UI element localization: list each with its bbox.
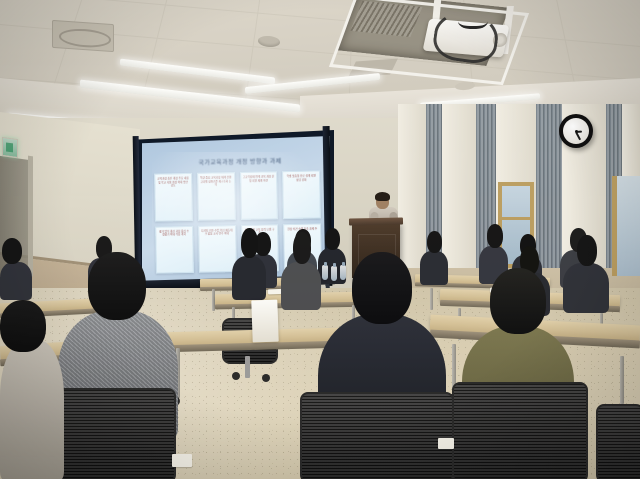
- power-cable: [458, 10, 488, 29]
- wall-clock: [559, 114, 593, 148]
- window: [612, 176, 640, 276]
- ceiling-projector: [338, 0, 518, 78]
- slide-box-1: 교육과정 총론 개정 주요 내용 및 학교 자율 편성 확대 방안 검토: [154, 173, 193, 221]
- slide-box-text: 역량 중심 교육과정 체계 전환 교과별 성취기준 재구조화 논의: [200, 176, 232, 187]
- slide-box-4: 학생 맞춤형 진로 설계 지원 상담 강화: [282, 170, 321, 218]
- slide-box-text: 교육과정 총론 개정 주요 내용 및 학교 자율 편성 확대 방안 검토: [157, 177, 189, 188]
- paper-bag[interactable]: [251, 300, 278, 343]
- chair[interactable]: [452, 382, 584, 479]
- chair[interactable]: [596, 404, 640, 479]
- slide-box-text: 평가 방식 개선 과정 중심 수행평가 확대 적용 계획: [158, 229, 190, 237]
- slide-box-text: 디지털 기반 수업 혁신 에듀테크 활용 교사 연수 확대: [201, 229, 233, 237]
- attendee-left-rear: [0, 300, 64, 479]
- floor-cup[interactable]: [172, 454, 192, 467]
- slide-box-3: 고교학점제 연계 과목 개설 운영 지원 체계 마련: [240, 171, 279, 219]
- attendee-left-mid: [0, 238, 32, 296]
- air-diffuser-icon: [52, 20, 114, 52]
- slide-box-6: 디지털 기반 수업 혁신 에듀테크 활용 교사 연수 확대: [198, 225, 237, 273]
- attendee-center-grey: [281, 232, 321, 304]
- slide-title: 국가교육과정 개정 방향과 과제: [168, 154, 312, 167]
- lectern-top: [349, 218, 403, 226]
- slide-box-text: 학생 맞춤형 진로 설계 지원 상담 강화: [285, 174, 317, 182]
- floor-cup[interactable]: [438, 438, 454, 449]
- presenter-hair: [375, 192, 390, 201]
- exit-sign-icon: [2, 137, 18, 158]
- clock-center-pin: [575, 130, 578, 133]
- slide-box-2: 역량 중심 교육과정 체계 전환 교과별 성취기준 재구조화 논의: [197, 172, 236, 220]
- slide-box-text: 고교학점제 연계 과목 개설 운영 지원 체계 마련: [243, 175, 275, 183]
- chair[interactable]: [300, 392, 450, 479]
- seminar-room-photo: 국가교육과정 개정 방향과 과제 교육과정 총론 개정 주요 내용 및 학교 자…: [0, 0, 640, 479]
- attendee-left-mid: [232, 228, 266, 296]
